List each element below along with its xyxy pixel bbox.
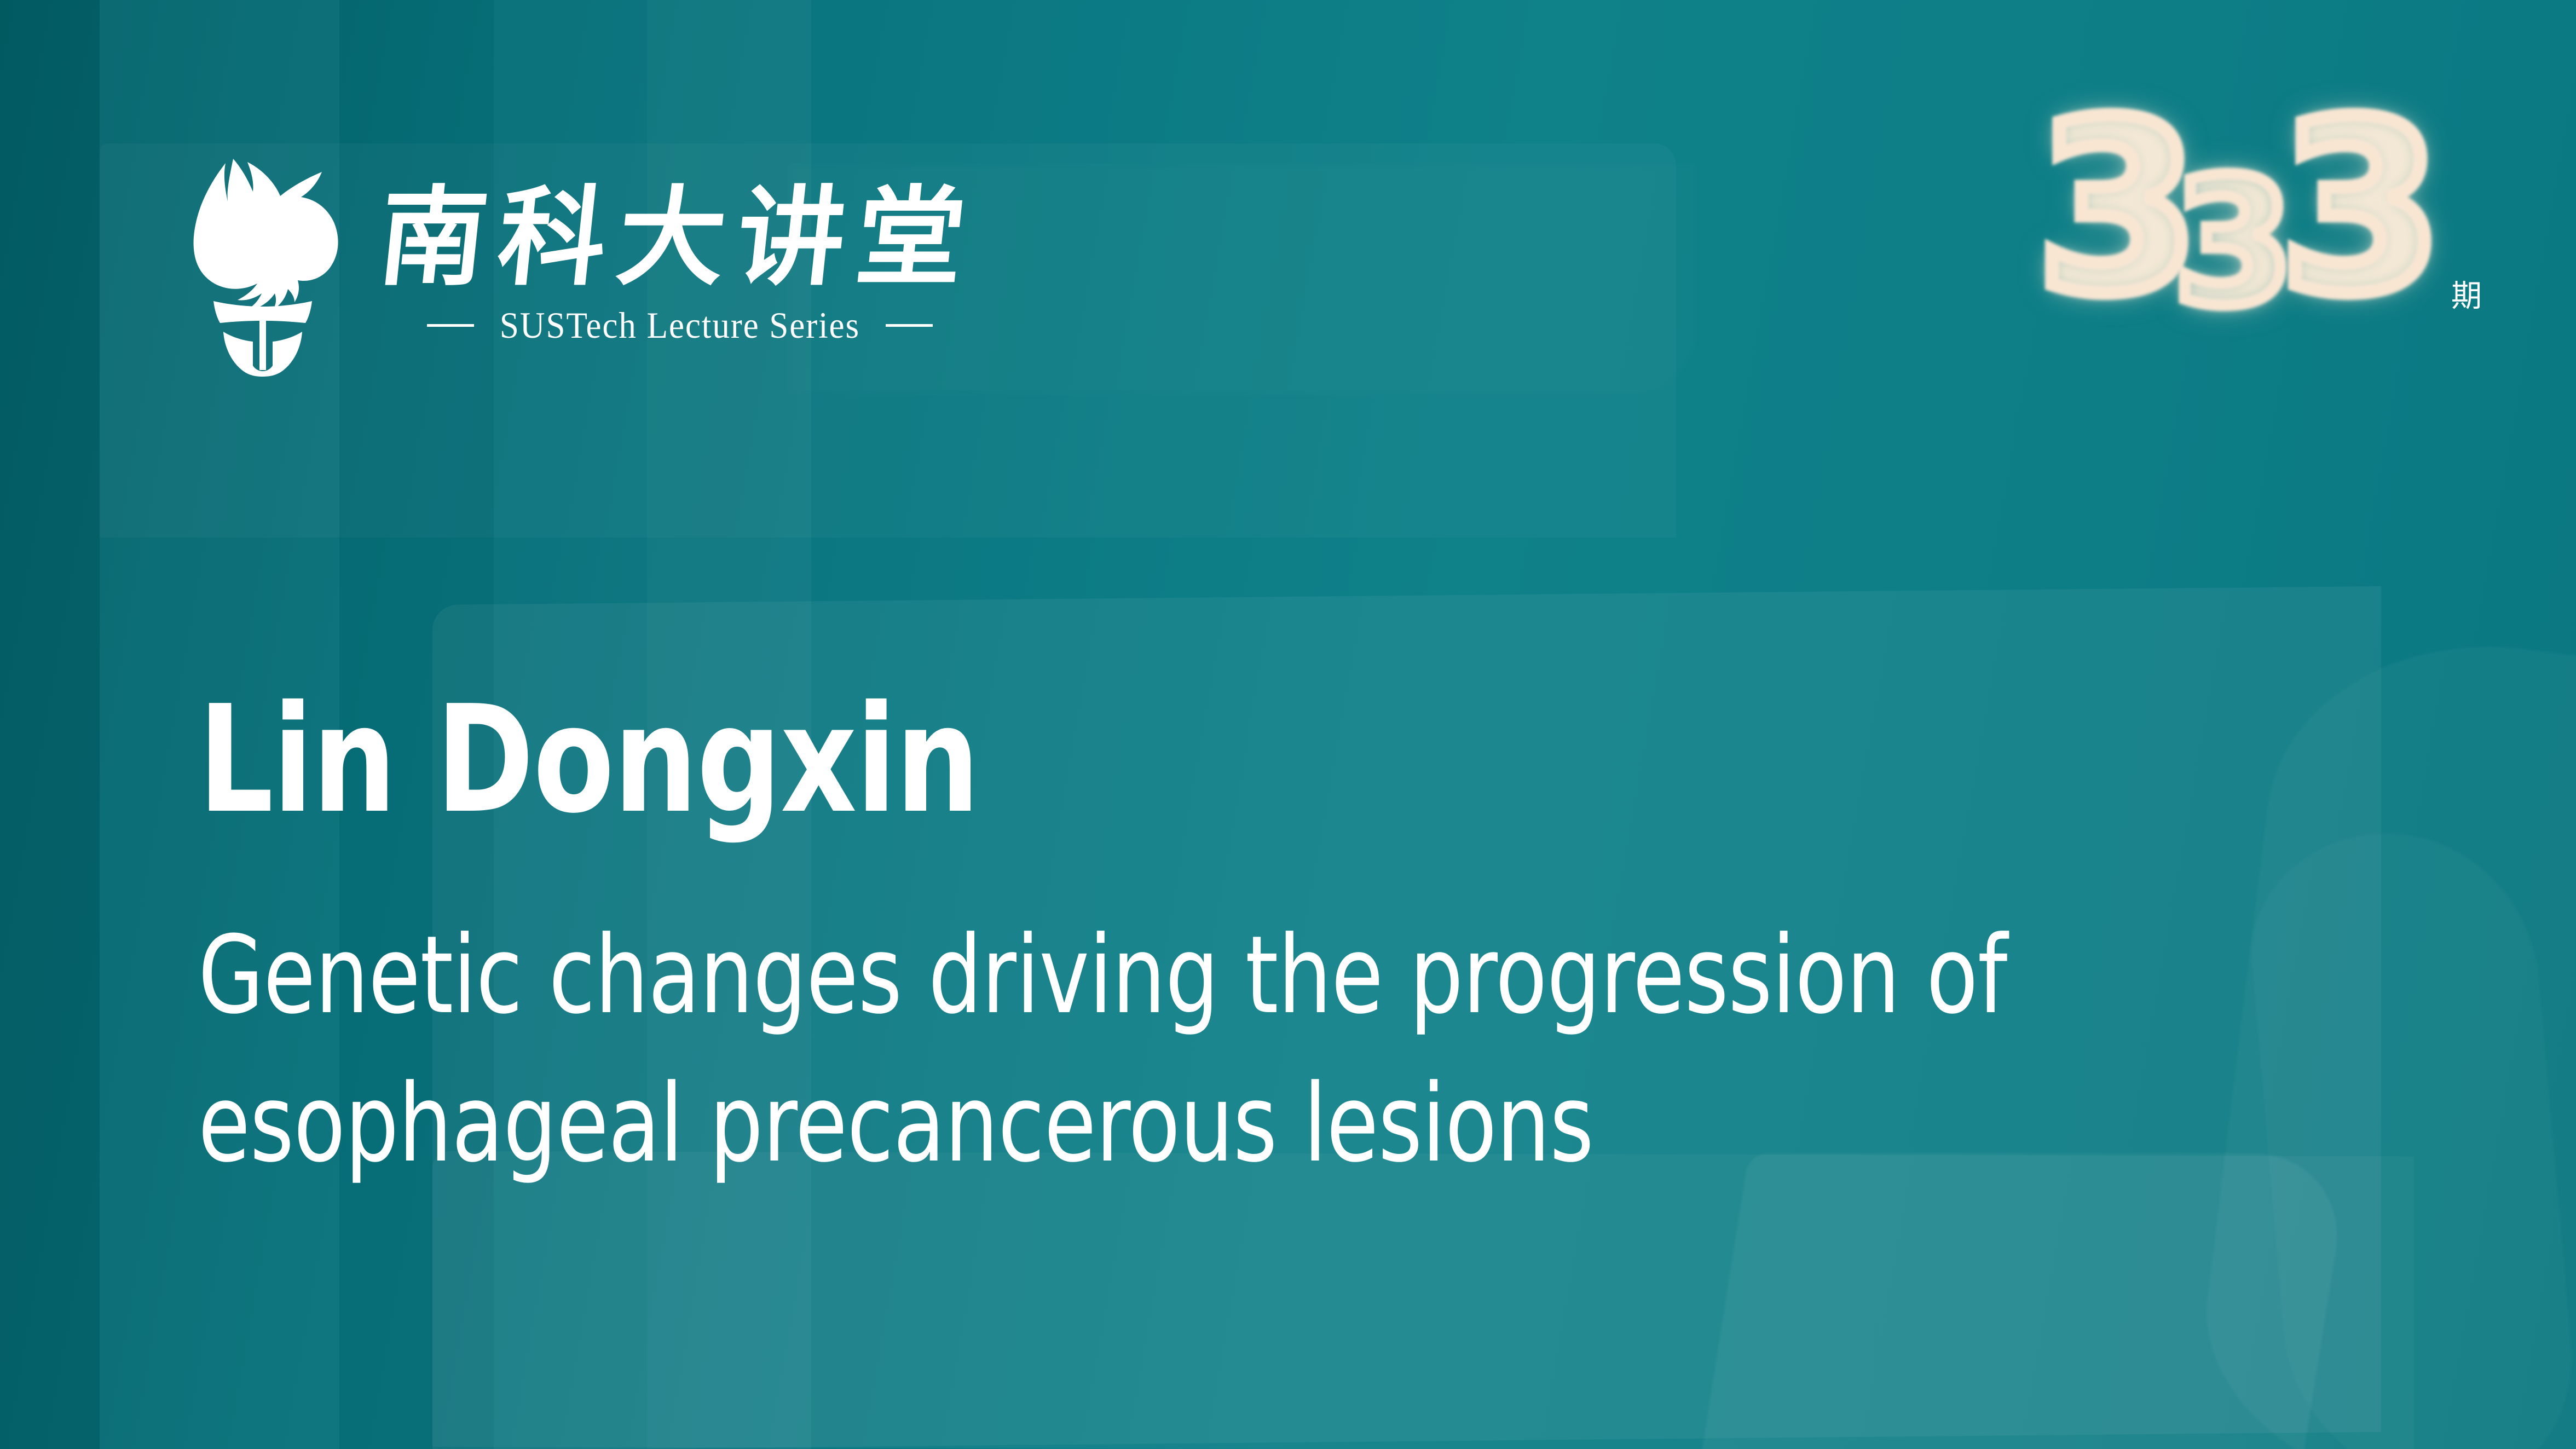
issue-digit-2: 3 <box>2173 155 2294 330</box>
sustech-lecture-series-logo: 南科大讲堂 SUSTech Lecture Series <box>181 147 986 377</box>
logo-wordmark-group: 南科大讲堂 SUSTech Lecture Series <box>373 147 986 344</box>
lecture-title-card: 南科大讲堂 SUSTech Lecture Series 3 3 3 期 Lin… <box>0 0 2576 1449</box>
chinese-wordmark-text: 南科大讲堂 <box>373 176 983 300</box>
wordmark-rule-right <box>886 324 933 327</box>
poster-main-content: Lin Dongxin Genetic changes driving the … <box>198 684 2412 1198</box>
talk-title-line-2: esophageal precancerous lesions <box>198 1050 1947 1198</box>
issue-digit-3: 3 <box>2279 91 2443 326</box>
english-wordmark-row: SUSTech Lecture Series <box>427 307 933 344</box>
wordmark-rule-left <box>427 324 474 327</box>
talk-title-line-1: Genetic changes driving the progression … <box>198 902 1947 1049</box>
english-wordmark-text: SUSTech Lecture Series <box>500 307 860 344</box>
issue-number-digits: 3 3 3 <box>2036 91 2441 326</box>
poster-header: 南科大讲堂 SUSTech Lecture Series 3 3 3 期 <box>0 0 2576 416</box>
issue-number-badge: 3 3 3 期 <box>2036 91 2482 326</box>
sustech-torch-cup-logo-icon <box>181 147 345 377</box>
issue-suffix-label: 期 <box>2451 281 2482 312</box>
talk-title: Genetic changes driving the progression … <box>198 902 1947 1198</box>
chinese-wordmark-nankedajiangtang: 南科大讲堂 <box>373 172 986 303</box>
speaker-name: Lin Dongxin <box>198 684 1969 835</box>
